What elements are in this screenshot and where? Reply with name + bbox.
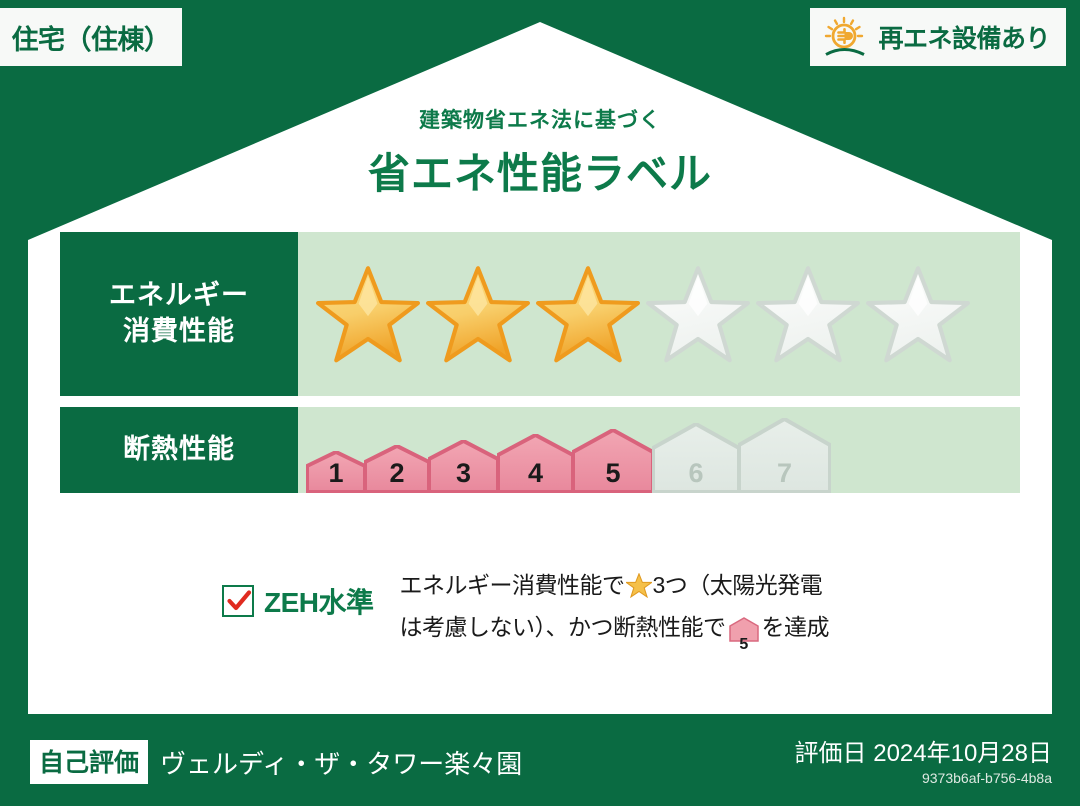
building-name: ヴェルディ・ザ・タワー楽々園 (160, 744, 522, 781)
evaluation-type-chip: 自己評価 (30, 740, 148, 784)
house-rating-scale: 1234567 (298, 407, 829, 493)
renewable-energy-label: 再エネ設備あり (878, 19, 1050, 55)
label-subtitle: 建築物省エネ法に基づく (0, 104, 1080, 134)
star-empty-icon (756, 264, 860, 364)
title-block: 建築物省エネ法に基づく 省エネ性能ラベル (0, 104, 1080, 201)
house-badge-number: 5 (729, 637, 759, 653)
star-empty-icon (646, 264, 750, 364)
energy-performance-row: エネルギー 消費性能 (60, 232, 1020, 396)
sun-plug-icon (822, 16, 868, 58)
zeh-desc-text-d: を達成 (762, 614, 830, 640)
star-empty-icon (866, 264, 970, 364)
zeh-standard-label: ZEH水準 (264, 581, 374, 621)
insulation-performance-label: 断熱性能 (60, 407, 298, 493)
zeh-tag: ZEH水準 (222, 567, 374, 621)
building-type-label: 住宅（住棟） (12, 18, 171, 57)
energy-performance-value (298, 232, 1020, 396)
energy-label-line2: 消費性能 (123, 314, 235, 350)
renewable-energy-badge: 再エネ設備あり (810, 8, 1066, 66)
evaluation-date-value: 2024年10月28日 (873, 740, 1052, 767)
star-filled-icon (316, 264, 420, 364)
footer-left: 自己評価 ヴェルディ・ザ・タワー楽々園 (30, 740, 522, 784)
evaluation-date: 評価日 2024年10月28日 (795, 733, 1052, 768)
insulation-performance-row: 断熱性能 1234567 (60, 407, 1020, 493)
insulation-label: 断熱性能 (123, 432, 235, 468)
zeh-standard-block: ZEH水準 エネルギー消費性能で3つ（太陽光発電 は考慮しない）、かつ断熱性能で… (222, 567, 829, 654)
house-level-6: 6 (652, 423, 740, 493)
star-filled-icon (426, 264, 530, 364)
energy-performance-label: エネルギー 消費性能 (60, 232, 298, 396)
footer-right: 評価日 2024年10月28日 9373b6af-b756-4b8a (795, 733, 1052, 786)
insulation-performance-value: 1234567 (298, 407, 1020, 493)
page-title: 省エネ性能ラベル (0, 140, 1080, 201)
house-level-1: 1 (306, 451, 366, 493)
house-badge-icon: 5 (729, 616, 759, 653)
house-level-5: 5 (572, 429, 654, 493)
zeh-description-line2: は考慮しない）、かつ断熱性能で5を達成 (400, 609, 830, 653)
evaluation-date-label: 評価日 (795, 740, 867, 767)
house-level-7: 7 (738, 418, 831, 493)
zeh-desc-text-c: は考慮しない）、かつ断熱性能で (400, 614, 726, 640)
house-level-4: 4 (497, 434, 574, 493)
energy-label-line1: エネルギー (109, 278, 249, 314)
house-level-2: 2 (364, 445, 430, 493)
building-type-tag: 住宅（住棟） (0, 8, 182, 66)
zeh-description: エネルギー消費性能で3つ（太陽光発電 は考慮しない）、かつ断熱性能で5を達成 (400, 567, 830, 654)
zeh-desc-text-a: エネルギー消費性能で (400, 572, 625, 598)
star-rating (298, 264, 970, 364)
zeh-description-line1: エネルギー消費性能で3つ（太陽光発電 (400, 567, 830, 609)
star-filled-icon (536, 264, 640, 364)
star-icon (626, 577, 652, 603)
checkmark-icon (222, 585, 254, 617)
label-id: 9373b6af-b756-4b8a (795, 770, 1052, 786)
house-level-3: 3 (428, 440, 499, 493)
zeh-desc-text-b: 3つ（太陽光発電 (653, 572, 823, 598)
